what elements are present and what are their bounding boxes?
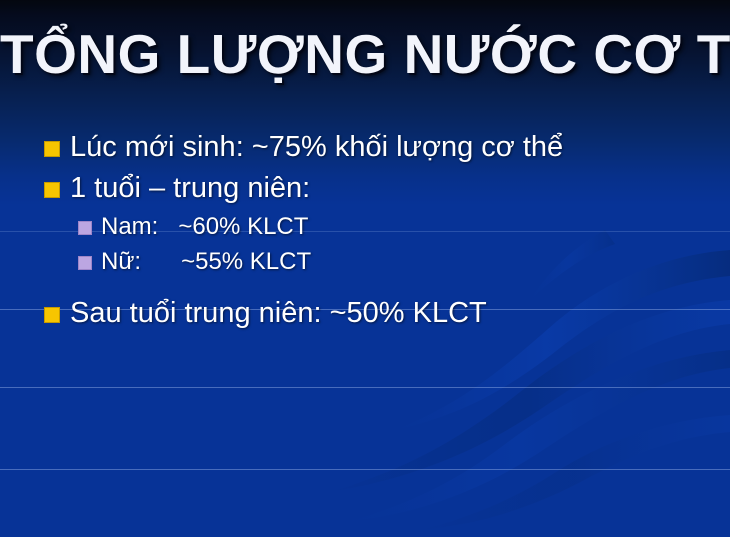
slide-title: TỔNG LƯỢNG NƯỚC CƠ THỂ — [0, 26, 730, 82]
slide-title-container: TỔNG LƯỢNG NƯỚC CƠ THỂ — [0, 26, 730, 82]
bullet-item-level2: Nữ: ~55% KLCT — [0, 244, 730, 279]
bullet-list-spacer — [0, 279, 730, 293]
bullet-text: 1 tuổi – trung niên: — [70, 168, 310, 209]
square-bullet-gold-icon — [44, 141, 60, 157]
bullet-item-level2: Nam: ~60% KLCT — [0, 209, 730, 244]
bullet-item-level1: Sau tuổi trung niên: ~50% KLCT — [0, 293, 730, 334]
bullet-item-level1: Lúc mới sinh: ~75% khối lượng cơ thể — [0, 127, 730, 168]
square-bullet-lilac-icon — [78, 221, 92, 235]
square-bullet-gold-icon — [44, 307, 60, 323]
bullet-text: Nữ: ~55% KLCT — [101, 244, 311, 279]
square-bullet-lilac-icon — [78, 256, 92, 270]
presentation-slide: TỔNG LƯỢNG NƯỚC CƠ THỂ Lúc mới sinh: ~75… — [0, 0, 730, 537]
slide-body-bullet-list: Lúc mới sinh: ~75% khối lượng cơ thể 1 t… — [0, 127, 730, 334]
bullet-text: Sau tuổi trung niên: ~50% KLCT — [70, 293, 487, 334]
bullet-item-level1: 1 tuổi – trung niên: — [0, 168, 730, 209]
square-bullet-gold-icon — [44, 182, 60, 198]
bullet-text: Lúc mới sinh: ~75% khối lượng cơ thể — [70, 127, 563, 168]
bullet-text: Nam: ~60% KLCT — [101, 209, 308, 244]
